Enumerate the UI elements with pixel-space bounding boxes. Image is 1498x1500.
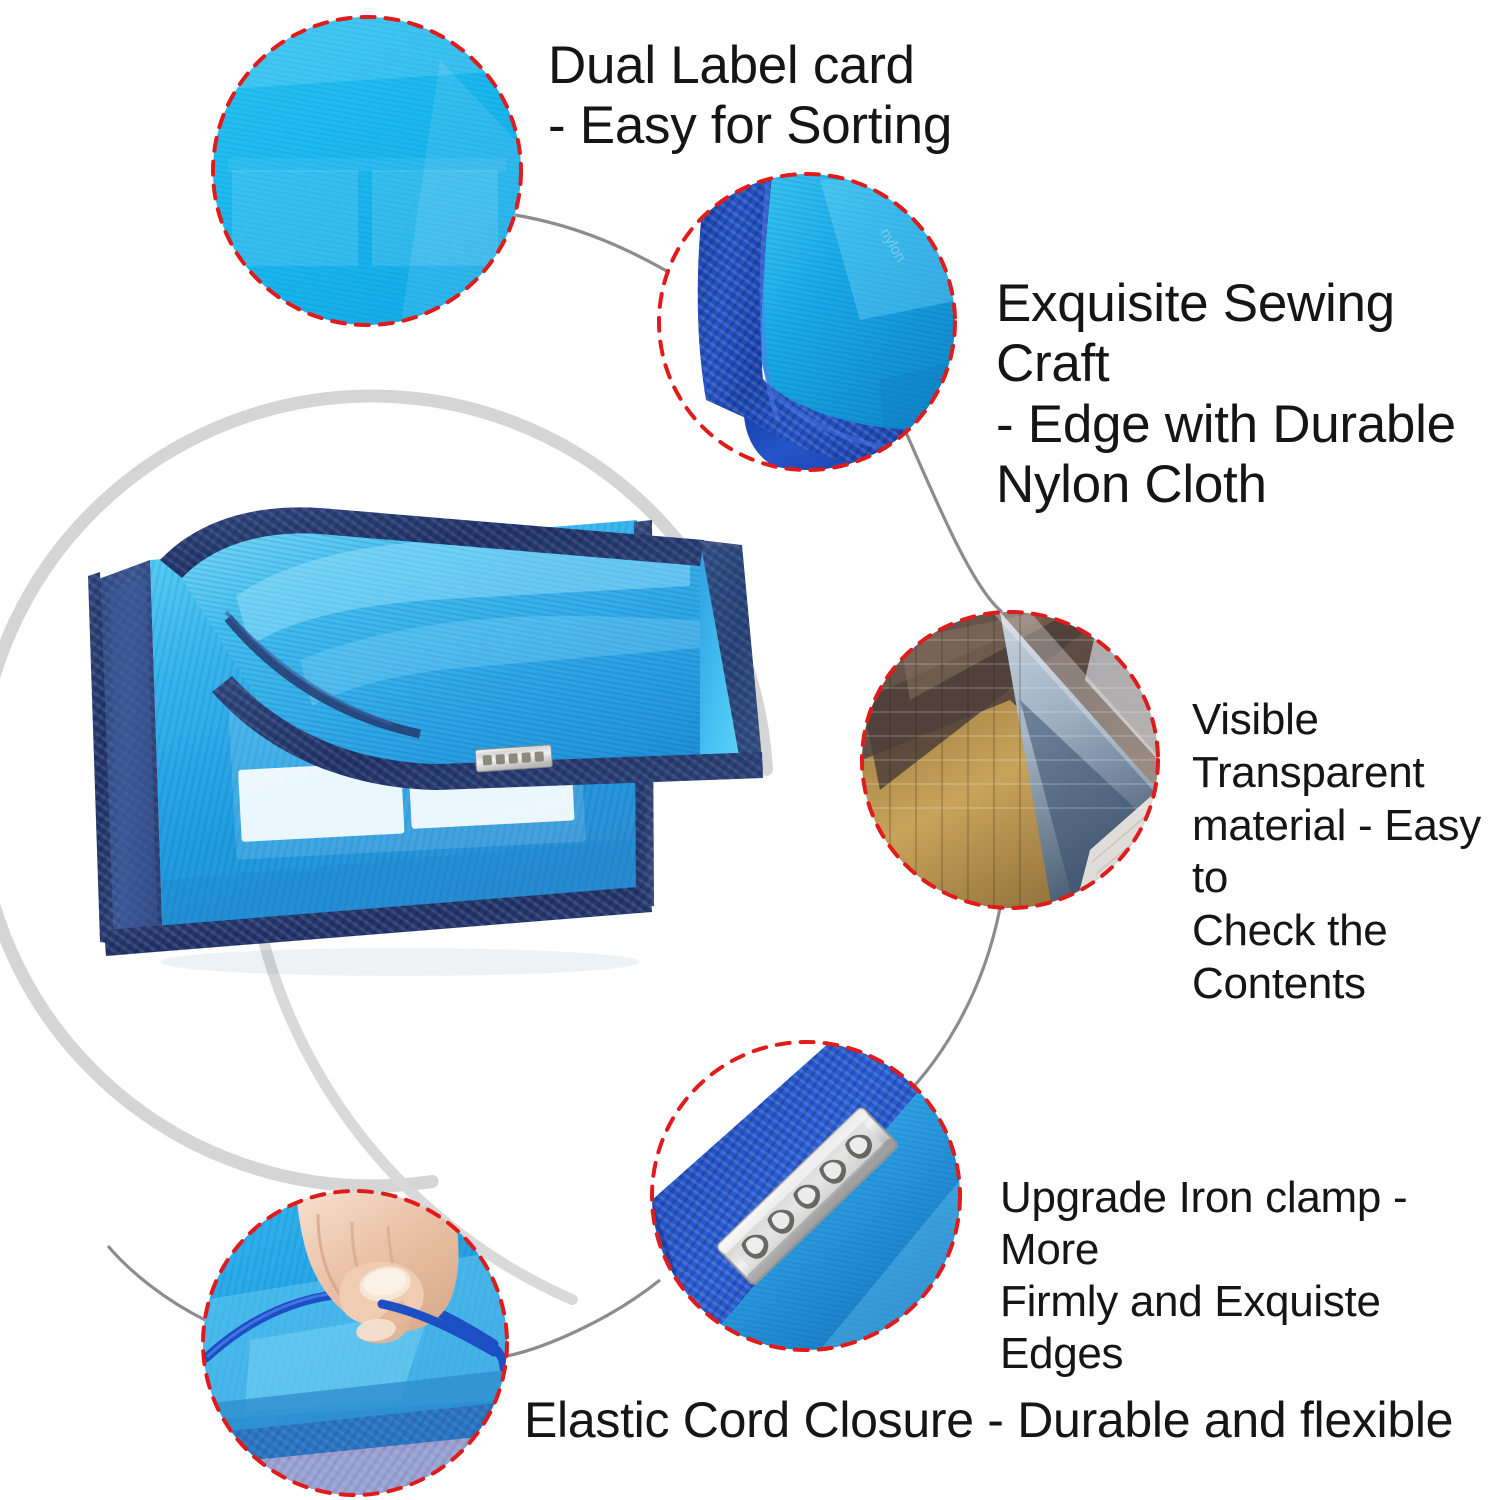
detail-circle-elastic-cord (203, 1191, 507, 1495)
callout-label-elastic-cord-closure: Elastic Cord Closure - Durable and flexi… (524, 1392, 1453, 1449)
callout-label-dual-label-card: Dual Label card - Easy for Sorting (548, 36, 952, 157)
callout-label-exquisite-sewing-craft: Exquisite Sewing Craft - Edge with Durab… (996, 274, 1498, 516)
connector-1-2 (515, 215, 672, 274)
iron-clamp-on-product (475, 745, 552, 772)
detail-circle-transparent-material (862, 612, 1158, 908)
callout-label-upgrade-iron-clamp: Upgrade Iron clamp - More Firmly and Exq… (1000, 1172, 1498, 1380)
detail-circle-dual-label-card (213, 17, 525, 330)
detail-circle-iron-clamp (652, 1042, 962, 1352)
connector-5-ring (108, 1246, 205, 1320)
detail-circle-sewing-craft: nylon (659, 174, 960, 471)
callout-label-visible-transparent-material: Visible Transparent material - Easy to C… (1192, 694, 1498, 1011)
connector-3-4 (892, 908, 1000, 1108)
connector-2-3 (905, 430, 1002, 612)
product-hero-image (88, 507, 763, 976)
product-feature-infographic: nylon (0, 0, 1498, 1500)
connector-4-5 (507, 1280, 660, 1356)
